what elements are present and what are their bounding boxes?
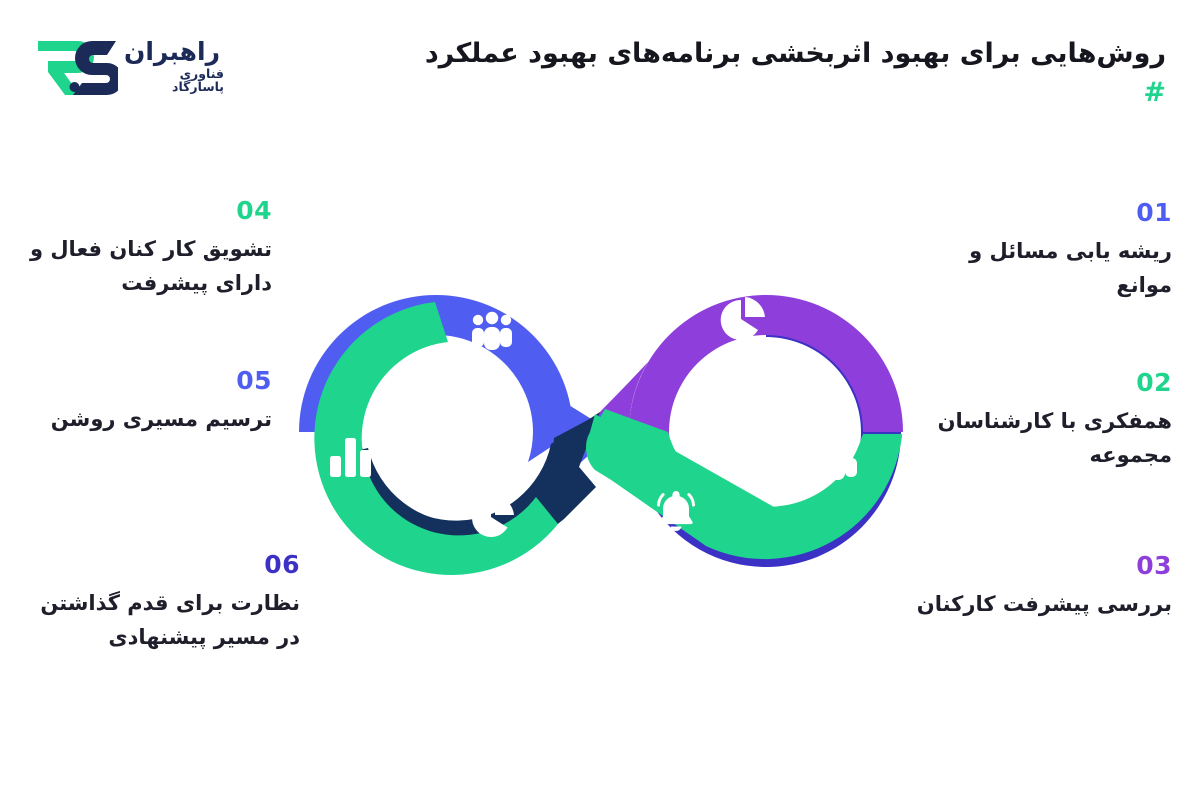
brand-logo: راهبران فناوری پاسارگاد bbox=[34, 28, 224, 106]
item-label: بررسی پیشرفت کارکنان bbox=[912, 587, 1172, 621]
list-item-06: 06 نظارت برای قدم گذاشتن در مسیر پیشنهاد… bbox=[20, 552, 300, 654]
segment-cross-band bbox=[586, 409, 902, 559]
item-label: ریشه یابی مسائل و موانع bbox=[912, 234, 1172, 302]
people-icon bbox=[817, 442, 857, 480]
item-number: 04 bbox=[20, 198, 272, 223]
hash-symbol: # bbox=[1143, 77, 1166, 108]
item-label: ترسیم مسیری روشن bbox=[20, 402, 272, 436]
brand-tagline: فناوری پاسارگاد bbox=[124, 67, 224, 93]
page-title: روش‌هایی برای بهبود اثربخشی برنامه‌های ب… bbox=[406, 34, 1166, 112]
brand-wordmark: راهبران فناوری پاسارگاد bbox=[124, 39, 224, 96]
item-number: 05 bbox=[20, 368, 272, 393]
item-label: نظارت برای قدم گذاشتن در مسیر پیشنهادی bbox=[20, 586, 300, 654]
list-item-02: 02 همفکری با کارشناسان مجموعه bbox=[912, 370, 1172, 472]
logo-mark-icon bbox=[34, 37, 118, 97]
infinity-diagram bbox=[296, 262, 906, 602]
list-item-05: 05 ترسیم مسیری روشن bbox=[20, 368, 272, 436]
item-number: 03 bbox=[912, 553, 1172, 578]
page-title-text: روش‌هایی برای بهبود اثربخشی برنامه‌های ب… bbox=[425, 38, 1166, 69]
item-label: تشویق کار کنان فعال و دارای پیشرفت bbox=[20, 232, 272, 300]
item-number: 01 bbox=[912, 200, 1172, 225]
item-label: همفکری با کارشناسان مجموعه bbox=[912, 404, 1172, 472]
page-header: راهبران فناوری پاسارگاد روش‌هایی برای به… bbox=[0, 0, 1200, 120]
item-number: 02 bbox=[912, 370, 1172, 395]
brand-name: راهبران bbox=[124, 39, 220, 65]
item-number: 06 bbox=[20, 552, 300, 577]
list-item-03: 03 بررسی پیشرفت کارکنان bbox=[912, 553, 1172, 621]
list-item-04: 04 تشویق کار کنان فعال و دارای پیشرفت bbox=[20, 198, 272, 300]
list-item-01: 01 ریشه یابی مسائل و موانع bbox=[912, 200, 1172, 302]
people-icon bbox=[472, 312, 512, 350]
